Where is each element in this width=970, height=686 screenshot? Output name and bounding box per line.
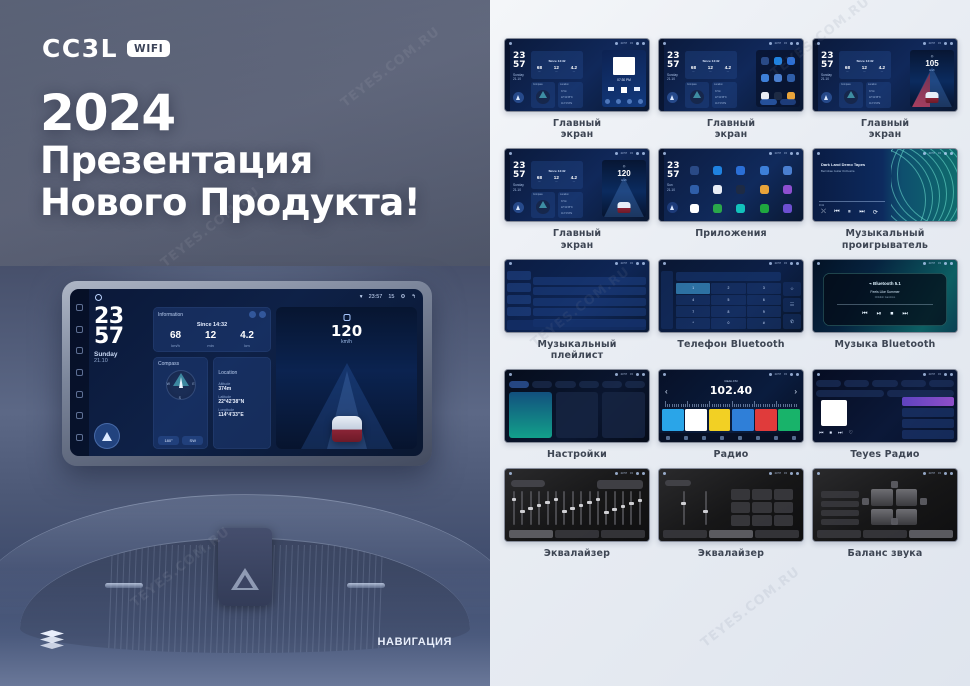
eq-slider[interactable]: [622, 491, 624, 525]
thumbnail-caption: Главныйэкран: [707, 118, 755, 140]
gallery-item[interactable]: Dark Land Demo Tapes Berimbau Guitar Orc…: [812, 148, 958, 250]
eq-slider[interactable]: [538, 491, 540, 525]
audio-tab[interactable]: [709, 530, 753, 538]
previous-station-icon[interactable]: ‹: [665, 387, 668, 396]
playlist-tab[interactable]: [507, 283, 531, 292]
home-screen-preview[interactable]: 23 57 Sunday21.10 Since 14:32 68—12—4.2—…: [505, 149, 649, 221]
screen-thumbnail[interactable]: 23 57 Sunday21.10 Since 14:32 68—12—4.2—…: [658, 38, 804, 112]
screen-thumbnail[interactable]: 23 57 Sun21.10 23:57 15: [658, 148, 804, 222]
screen-thumbnail[interactable]: 23 57 Sunday21.10 Since 14:32 68—12—4.2—…: [812, 38, 958, 112]
dial-key[interactable]: 8: [711, 306, 745, 317]
preset-key[interactable]: [774, 489, 793, 500]
compass-card[interactable]: Compass: [531, 192, 555, 218]
settings-tab[interactable]: [509, 381, 529, 388]
eq-slider[interactable]: [555, 491, 557, 525]
sound-balance-preview[interactable]: [813, 469, 957, 541]
screen-thumbnail[interactable]: 23 57 Sunday21.10 Since 14:32 68—12—4.2—…: [504, 148, 650, 222]
settings-card[interactable]: [509, 392, 552, 438]
compass-card[interactable]: Compass W E S 180°: [153, 357, 208, 450]
preset-tiles[interactable]: [662, 409, 800, 431]
gallery-item[interactable]: ⏮⏹⏭♡ 23:57 15 Teyes Радио: [812, 369, 958, 460]
app-icon[interactable]: [761, 57, 769, 65]
teyes-tab[interactable]: [901, 380, 926, 387]
app-icon[interactable]: [760, 185, 769, 194]
progress-bar[interactable]: [819, 201, 885, 202]
app-icon[interactable]: [713, 185, 722, 194]
volume-down-icon[interactable]: [76, 412, 83, 419]
track-row[interactable]: [533, 287, 646, 295]
sidebar-icon-next[interactable]: [76, 326, 83, 333]
eq-slider[interactable]: [530, 491, 532, 525]
back-icon[interactable]: [642, 152, 645, 155]
app-icon[interactable]: [690, 204, 699, 213]
home-icon[interactable]: [817, 152, 820, 155]
home-icon[interactable]: [817, 373, 820, 376]
audio-tabs[interactable]: [663, 530, 799, 538]
home-screen-preview[interactable]: 23 57 Sunday21.10 Since 14:32 68—12—4.2—…: [813, 39, 957, 111]
hazard-light-button[interactable]: [218, 528, 272, 606]
preset-tile[interactable]: [778, 409, 800, 431]
back-icon[interactable]: [76, 391, 83, 398]
playlist-tab[interactable]: [507, 295, 531, 304]
app-icon[interactable]: [783, 166, 792, 175]
seat-icon[interactable]: [871, 509, 893, 526]
app-grid[interactable]: [683, 160, 799, 218]
drive-widget[interactable]: ◎ 105 km/h: [910, 50, 954, 107]
progress-bar[interactable]: [837, 304, 933, 305]
settings-tabs[interactable]: [509, 381, 645, 388]
eq-slider[interactable]: [580, 491, 582, 525]
gear-icon[interactable]: [790, 152, 793, 155]
dial-actions[interactable]: ☆ ☷ ✆: [783, 282, 801, 329]
home-screen-preview[interactable]: 23 57 Sunday21.10 Since 14:32 68—12—4.2—…: [659, 39, 803, 111]
track-row[interactable]: [533, 298, 646, 306]
settings-tab[interactable]: [625, 381, 645, 388]
player-controls[interactable]: ⏮⏯ ⏹⏭: [823, 311, 947, 318]
preset-selector[interactable]: [511, 480, 545, 487]
information-card[interactable]: Information Since 14:32 68km/h 12min 4.2…: [153, 307, 271, 352]
balance-slider[interactable]: [821, 491, 859, 497]
mini-sidebar[interactable]: [659, 149, 664, 221]
gallery-item[interactable]: 23:57 15 Настройки: [504, 369, 650, 460]
seat-icon[interactable]: [896, 509, 918, 526]
settings-cards[interactable]: [509, 392, 645, 438]
eq-slider[interactable]: [614, 491, 616, 525]
arrow-left-icon[interactable]: [862, 498, 869, 505]
home-icon[interactable]: [509, 373, 512, 376]
compass-card[interactable]: Compass: [685, 82, 709, 108]
screen-thumbnail[interactable]: 23:57 15: [504, 259, 650, 333]
gallery-item[interactable]: 23 57 Sunday21.10 Since 14:32 68—12—4.2—…: [504, 148, 650, 250]
dial-key[interactable]: 5: [711, 295, 745, 306]
playlist-tabs[interactable]: [507, 271, 531, 320]
gear-icon[interactable]: [790, 373, 793, 376]
home-icon[interactable]: [509, 42, 512, 45]
gallery-item[interactable]: 23:57 15 Эквалайзер: [504, 468, 650, 559]
gallery-item[interactable]: 23 57 Sunday21.10 Since 14:32 68—12—4.2—…: [812, 38, 958, 140]
back-icon[interactable]: [796, 262, 799, 265]
app-icon[interactable]: [787, 74, 795, 82]
screen-thumbnail[interactable]: Dark Land Demo Tapes Berimbau Guitar Orc…: [812, 148, 958, 222]
home-icon[interactable]: [663, 373, 666, 376]
settings-tab[interactable]: [555, 381, 575, 388]
arrow-up-icon[interactable]: [891, 481, 898, 488]
home-screen-preview[interactable]: 23 57 Sunday21.10 Since 14:32 68—12—4.2—…: [505, 39, 649, 111]
playlist-tab[interactable]: [507, 271, 531, 280]
drive-view[interactable]: 120 km/h: [276, 307, 417, 449]
preset-tile[interactable]: [732, 409, 754, 431]
information-card[interactable]: Since 14:32 68—12—4.2—: [531, 51, 583, 79]
navigation-button[interactable]: [94, 423, 120, 449]
dial-key[interactable]: 2: [711, 283, 745, 294]
mini-sidebar[interactable]: [659, 39, 664, 111]
phone-tabs[interactable]: [661, 271, 673, 329]
media-widget[interactable]: 07:30 PM: [602, 50, 646, 107]
station-row[interactable]: [902, 419, 954, 428]
number-field[interactable]: [676, 272, 781, 281]
screen-thumbnail[interactable]: 23 57 Sunday21.10 Since 14:32 68—12—4.2—…: [504, 38, 650, 112]
now-playing-bar[interactable]: [507, 320, 646, 330]
audio-tab[interactable]: [601, 530, 645, 538]
favorite-icon[interactable]: ☆: [783, 282, 801, 296]
tone-slider[interactable]: [683, 491, 686, 525]
apps-screen-preview[interactable]: 23 57 Sun21.10: [659, 149, 803, 221]
location-card[interactable]: Location 374m 22°42'38"N 114°4'33"E: [712, 82, 737, 108]
arrow-down-icon[interactable]: [891, 518, 898, 525]
tone-slider[interactable]: [705, 491, 708, 525]
refresh-icon[interactable]: [249, 311, 256, 318]
gallery-item[interactable]: 23 57 Sunday21.10 Since 14:32 68—12—4.2—…: [504, 38, 650, 140]
gear-icon[interactable]: [944, 373, 947, 376]
back-icon[interactable]: [642, 42, 645, 45]
playlist-preview[interactable]: [505, 260, 649, 332]
eq-slider[interactable]: [572, 491, 574, 525]
app-icon[interactable]: [736, 204, 745, 213]
dial-key[interactable]: 9: [747, 306, 781, 317]
balance-slider[interactable]: [821, 510, 859, 516]
sidebar-icon-power[interactable]: [76, 347, 83, 354]
balance-slider[interactable]: [821, 501, 859, 507]
radio-preview[interactable]: Rádio FM 102.40 ‹ ›: [659, 370, 803, 442]
toolbar-icon[interactable]: [738, 436, 742, 440]
preset-key[interactable]: [731, 489, 750, 500]
media-tabs[interactable]: [602, 99, 646, 104]
dial-key[interactable]: *: [676, 318, 710, 329]
preset-key[interactable]: [774, 502, 793, 513]
teyes-tab[interactable]: [929, 380, 954, 387]
next-station-icon[interactable]: ›: [794, 387, 797, 396]
radio-toolbar[interactable]: [659, 433, 803, 442]
gallery-item[interactable]: 23 57 Sunday21.10 Since 14:32 68—12—4.2—…: [658, 38, 804, 140]
player-controls[interactable]: ⤬⏮⏸⏭⟳: [817, 209, 882, 216]
eq-slider[interactable]: [639, 491, 641, 525]
back-icon[interactable]: [642, 373, 645, 376]
preset-buttons[interactable]: [597, 480, 643, 489]
dial-key[interactable]: #: [747, 318, 781, 329]
dial-key[interactable]: 7: [676, 306, 710, 317]
settings-card[interactable]: [556, 392, 599, 438]
gear-icon[interactable]: [944, 152, 947, 155]
gallery-item[interactable]: 23:57 15 Баланс звука: [812, 468, 958, 559]
navigation-button[interactable]: [667, 92, 678, 103]
call-icon[interactable]: ✆: [783, 314, 801, 328]
thumbnail-caption: Эквалайзер: [544, 548, 610, 559]
audio-tabs[interactable]: [509, 530, 645, 538]
app-icon[interactable]: [774, 57, 782, 65]
home-icon[interactable]: [76, 369, 83, 376]
filter-pill[interactable]: [816, 390, 884, 397]
home-icon[interactable]: [663, 472, 666, 475]
home-icon[interactable]: [663, 42, 666, 45]
teyes-tab[interactable]: [816, 380, 841, 387]
home-icon[interactable]: [509, 152, 512, 155]
navigation-button[interactable]: [513, 92, 524, 103]
gallery-item[interactable]: ⌁ Bluetooth 5.1 Feels Like Summer Childi…: [812, 259, 958, 361]
screen-thumbnail[interactable]: ⏮⏹⏭♡ 23:57 15: [812, 369, 958, 443]
preset-key[interactable]: [774, 515, 793, 526]
compass-card[interactable]: Compass: [531, 82, 555, 108]
back-icon[interactable]: [950, 262, 953, 265]
navigation-button[interactable]: [513, 202, 524, 213]
dial-key[interactable]: 0: [711, 318, 745, 329]
preset-tile[interactable]: [755, 409, 777, 431]
sidebar-icon-prev[interactable]: [76, 304, 83, 311]
eq-slider[interactable]: [605, 491, 607, 525]
preset-key[interactable]: [731, 515, 750, 526]
preset-key[interactable]: [752, 515, 771, 526]
station-list[interactable]: [902, 397, 954, 438]
audio-tabs[interactable]: [817, 530, 953, 538]
gallery-item[interactable]: Rádio FM 102.40 ‹ › 23:57 15 Радио: [658, 369, 804, 460]
home-icon[interactable]: [663, 152, 666, 155]
seat-icon[interactable]: [896, 489, 918, 506]
eq-slider[interactable]: [563, 491, 565, 525]
gear-icon[interactable]: [944, 262, 947, 265]
bluetooth-music-preview[interactable]: ⌁ Bluetooth 5.1 Feels Like Summer Childi…: [813, 260, 957, 332]
eq-slider[interactable]: [521, 491, 523, 525]
contacts-icon[interactable]: ☷: [783, 298, 801, 312]
location-card[interactable]: Location 374m 22°42'38"N 114°4'33"E: [558, 82, 583, 108]
screen-thumbnail[interactable]: 23:57 15: [812, 468, 958, 542]
location-card[interactable]: Location 374m 22°42'38"N 114°4'33"E: [866, 82, 891, 108]
preset-key[interactable]: [752, 489, 771, 500]
gear-icon[interactable]: [790, 42, 793, 45]
information-card[interactable]: Since 14:32 68—12—4.2—: [685, 51, 737, 79]
audio-tab[interactable]: [509, 530, 553, 538]
gear-icon[interactable]: [790, 262, 793, 265]
audio-tab[interactable]: [663, 530, 707, 538]
dial-key[interactable]: 1: [676, 283, 710, 294]
app-icon[interactable]: [783, 204, 792, 213]
back-icon[interactable]: [950, 472, 953, 475]
gallery-item[interactable]: 23 57 Sun21.10 23:57 15 Приложения: [658, 148, 804, 250]
audio-tab[interactable]: [909, 530, 953, 538]
eq-slider[interactable]: [589, 491, 591, 525]
back-icon[interactable]: [950, 42, 953, 45]
track-row[interactable]: [533, 308, 646, 316]
app-icon[interactable]: [787, 57, 795, 65]
settings-tab[interactable]: [602, 381, 622, 388]
back-icon[interactable]: [642, 472, 645, 475]
mini-sidebar[interactable]: [505, 149, 510, 221]
teyes-tab[interactable]: [872, 380, 897, 387]
information-card[interactable]: Since 14:32 68—12—4.2—: [531, 161, 583, 189]
screen-thumbnail[interactable]: Rádio FM 102.40 ‹ › 23:57 15: [658, 369, 804, 443]
toolbar-icon[interactable]: [774, 436, 778, 440]
filter-pill[interactable]: [887, 390, 955, 397]
gear-icon[interactable]: [790, 472, 793, 475]
back-icon[interactable]: [950, 373, 953, 376]
toolbar-icon[interactable]: [666, 436, 670, 440]
preset-tile[interactable]: [662, 409, 684, 431]
music-player-preview[interactable]: Dark Land Demo Tapes Berimbau Guitar Orc…: [813, 149, 957, 221]
back-icon[interactable]: [796, 472, 799, 475]
eq-slider[interactable]: [630, 491, 632, 525]
back-icon[interactable]: [642, 262, 645, 265]
preset-tile[interactable]: [685, 409, 707, 431]
expand-icon[interactable]: [259, 311, 266, 318]
bluetooth-phone-preview[interactable]: 123456789*0# ☆ ☷ ✆: [659, 260, 803, 332]
screen-thumbnail[interactable]: 23:57 15: [504, 468, 650, 542]
eq-slider[interactable]: [513, 491, 515, 525]
station-row[interactable]: [902, 408, 954, 417]
app-icon[interactable]: [713, 204, 722, 213]
back-icon[interactable]: [950, 152, 953, 155]
screen-thumbnail[interactable]: 23:57 15: [658, 468, 804, 542]
back-icon[interactable]: [796, 373, 799, 376]
information-card[interactable]: Since 14:32 68—12—4.2—: [839, 51, 891, 79]
gear-icon[interactable]: [944, 472, 947, 475]
home-icon[interactable]: [817, 42, 820, 45]
screen-thumbnail[interactable]: ⌁ Bluetooth 5.1 Feels Like Summer Childi…: [812, 259, 958, 333]
audio-tab[interactable]: [755, 530, 799, 538]
settings-tab[interactable]: [532, 381, 552, 388]
playlist-tab[interactable]: [507, 307, 531, 316]
audio-tab[interactable]: [863, 530, 907, 538]
screen-thumbnail[interactable]: 123456789*0# ☆ ☷ ✆ 23:57 15: [658, 259, 804, 333]
app-icon[interactable]: [736, 185, 745, 194]
home-icon[interactable]: [817, 472, 820, 475]
toolbar-icon[interactable]: [756, 436, 760, 440]
station-row[interactable]: [902, 397, 954, 406]
seat-icon[interactable]: [871, 489, 893, 506]
location-card[interactable]: Location Altitude 374m Latitude 22°42'38…: [213, 357, 271, 450]
back-icon[interactable]: [796, 42, 799, 45]
track-list[interactable]: [533, 277, 646, 319]
gear-icon[interactable]: [636, 152, 639, 155]
arrow-right-icon[interactable]: [920, 498, 927, 505]
toolbar-icon[interactable]: [720, 436, 724, 440]
teyes-tab[interactable]: [844, 380, 869, 387]
location-card[interactable]: Location 374m 22°42'38"N 114°4'33"E: [558, 192, 583, 218]
back-icon[interactable]: [667, 202, 678, 213]
media-controls[interactable]: [602, 87, 646, 93]
gear-icon[interactable]: [636, 42, 639, 45]
gallery-item[interactable]: 23:57 15 Эквалайзер: [658, 468, 804, 559]
equalizer-bands-preview[interactable]: [505, 469, 649, 541]
tone-presets[interactable]: [731, 489, 793, 526]
eq-slider[interactable]: [547, 491, 549, 525]
app-icon[interactable]: [736, 166, 745, 175]
eq-slider[interactable]: [597, 491, 599, 525]
dial-key[interactable]: 4: [676, 295, 710, 306]
mini-sidebar[interactable]: [813, 39, 818, 111]
preset-selector[interactable]: [665, 480, 691, 486]
app-drawer-widget[interactable]: [756, 50, 800, 107]
settings-preview[interactable]: [505, 370, 649, 442]
preset-tile[interactable]: [709, 409, 731, 431]
home-icon[interactable]: [95, 294, 102, 301]
back-icon[interactable]: ↰: [411, 294, 416, 300]
equalizer-tone-preview[interactable]: [659, 469, 803, 541]
toolbar-icon[interactable]: [684, 436, 688, 440]
home-icon[interactable]: [509, 262, 512, 265]
player-controls[interactable]: ⏮⏹⏭♡: [819, 430, 853, 436]
home-icon[interactable]: [509, 472, 512, 475]
track-row[interactable]: [533, 277, 646, 285]
gear-icon[interactable]: [636, 472, 639, 475]
gear-icon[interactable]: [944, 42, 947, 45]
mini-sidebar[interactable]: [505, 39, 510, 111]
tone-sliders[interactable]: [673, 491, 717, 525]
app-icon[interactable]: [760, 204, 769, 213]
volume-up-icon[interactable]: [76, 434, 83, 441]
balance-sliders[interactable]: [821, 491, 859, 525]
audio-tab[interactable]: [555, 530, 599, 538]
app-icon[interactable]: [690, 185, 699, 194]
station-row[interactable]: [902, 430, 954, 439]
dial-pad[interactable]: 123456789*0#: [676, 283, 781, 329]
gear-icon[interactable]: ⚙: [400, 294, 405, 300]
preset-key[interactable]: [752, 502, 771, 513]
navigation-button[interactable]: [821, 92, 832, 103]
gear-icon[interactable]: [636, 262, 639, 265]
app-icon[interactable]: [774, 74, 782, 82]
home-icon[interactable]: [817, 262, 820, 265]
screen-thumbnail[interactable]: 23:57 15: [504, 369, 650, 443]
balance-slider[interactable]: [821, 519, 859, 525]
settings-card[interactable]: [602, 392, 645, 438]
back-icon[interactable]: [796, 152, 799, 155]
app-icon[interactable]: [783, 185, 792, 194]
app-icon[interactable]: [713, 166, 722, 175]
home-icon[interactable]: [663, 262, 666, 265]
app-icon[interactable]: [761, 74, 769, 82]
drive-widget[interactable]: ◎ 120 km/h: [602, 160, 646, 217]
gallery-item[interactable]: 23:57 15 Музыкальныйплейлист: [504, 259, 650, 361]
app-icon[interactable]: [690, 166, 699, 175]
dial-key[interactable]: 6: [747, 295, 781, 306]
head-unit-sidebar[interactable]: [70, 289, 89, 456]
app-icon[interactable]: [760, 166, 769, 175]
gallery-item[interactable]: 123456789*0# ☆ ☷ ✆ 23:57 15 Телефон Blue…: [658, 259, 804, 361]
audio-tab[interactable]: [817, 530, 861, 538]
toolbar-icon[interactable]: [702, 436, 706, 440]
teyes-tabs[interactable]: [816, 380, 954, 387]
preset-key[interactable]: [731, 502, 750, 513]
information-actions[interactable]: [249, 311, 266, 318]
teyes-radio-preview[interactable]: ⏮⏹⏭♡: [813, 370, 957, 442]
head-unit-screen[interactable]: ▾ 23:57 15 ⚙ ↰ 23 57 Sunday: [70, 289, 423, 456]
frequency-scale[interactable]: [665, 401, 797, 407]
gear-icon[interactable]: [636, 373, 639, 376]
compass-card[interactable]: Compass: [839, 82, 863, 108]
dial-key[interactable]: 3: [747, 283, 781, 294]
teyes-filters[interactable]: [816, 390, 954, 397]
equalizer-sliders[interactable]: [513, 491, 641, 525]
toolbar-icon[interactable]: [792, 436, 796, 440]
settings-tab[interactable]: [579, 381, 599, 388]
